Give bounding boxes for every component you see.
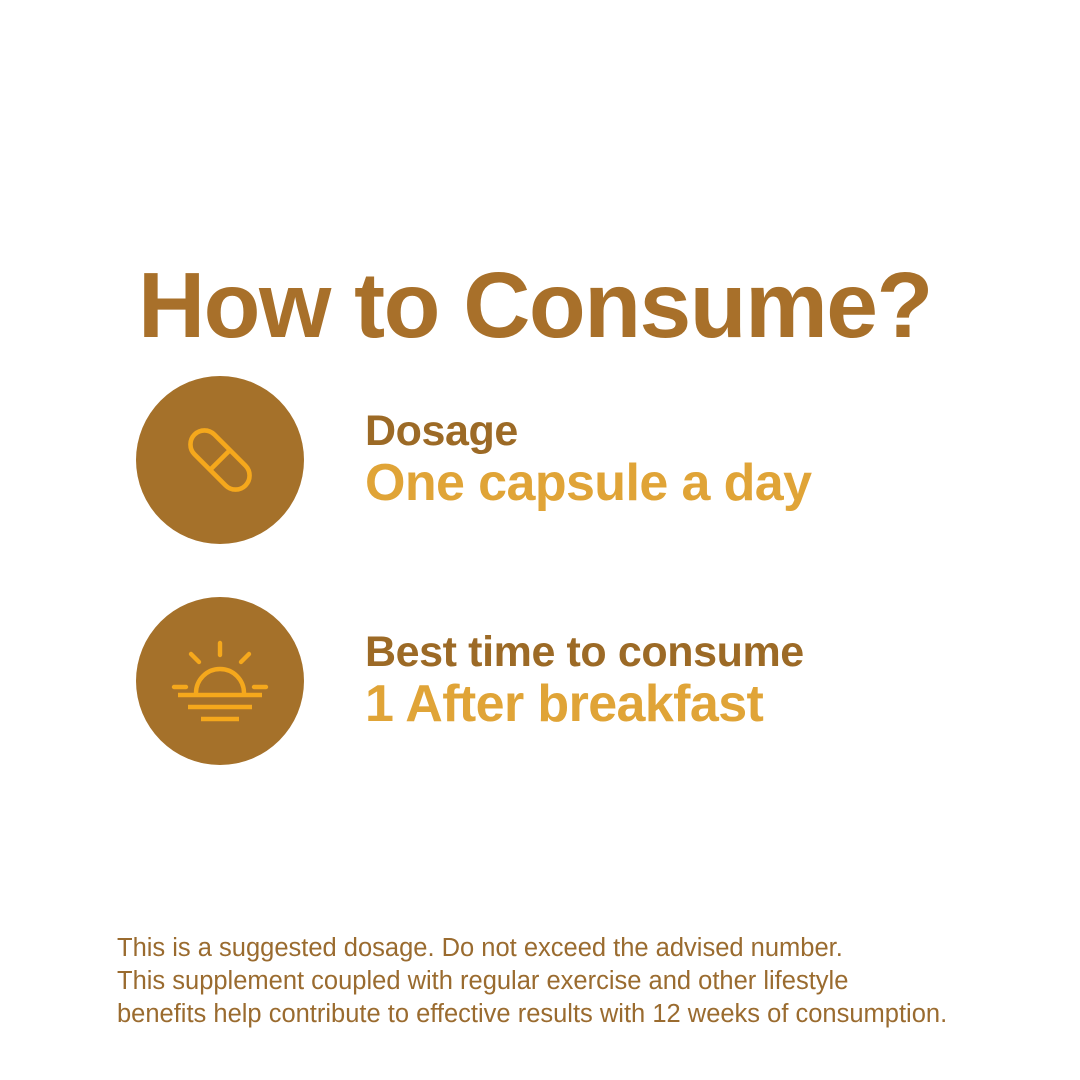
sunrise-icon	[170, 635, 270, 727]
dosage-value: One capsule a day	[365, 454, 811, 512]
disclaimer: This is a suggested dosage. Do not excee…	[117, 932, 1017, 1031]
page-title: How to Consume?	[138, 259, 932, 352]
dosage-text-block: Dosage One capsule a day	[365, 408, 811, 512]
best-time-icon-badge	[136, 597, 304, 765]
disclaimer-line-2: This supplement coupled with regular exe…	[117, 965, 1017, 998]
feature-row-best-time: Best time to consume 1 After breakfast	[136, 597, 804, 765]
disclaimer-line-3: benefits help contribute to effective re…	[117, 998, 1017, 1031]
capsule-icon	[174, 414, 266, 506]
disclaimer-line-1: This is a suggested dosage. Do not excee…	[117, 932, 1017, 965]
best-time-text-block: Best time to consume 1 After breakfast	[365, 629, 804, 733]
best-time-value: 1 After breakfast	[365, 675, 804, 733]
best-time-label: Best time to consume	[365, 629, 804, 675]
how-to-consume-card: How to Consume? Dosage One capsule a day	[0, 0, 1080, 1080]
feature-row-dosage: Dosage One capsule a day	[136, 376, 811, 544]
dosage-label: Dosage	[365, 408, 811, 454]
dosage-icon-badge	[136, 376, 304, 544]
